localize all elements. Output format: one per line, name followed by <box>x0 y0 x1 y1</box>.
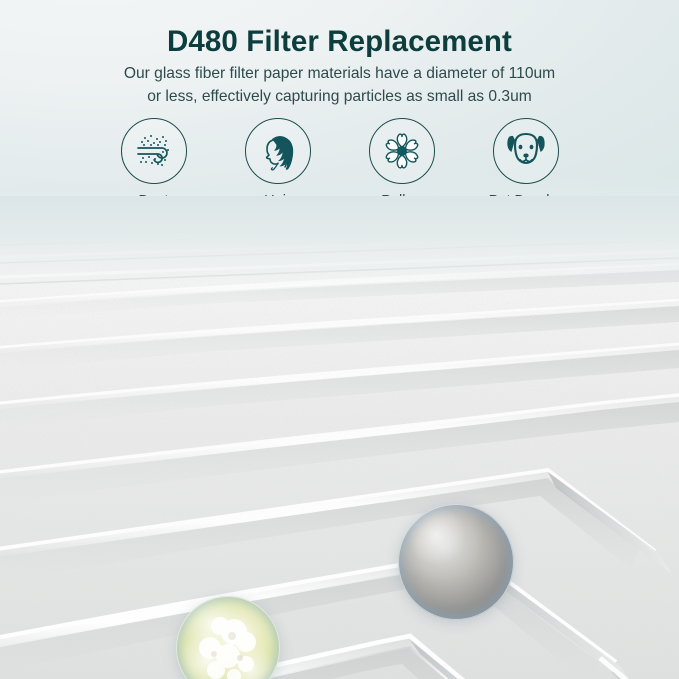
product-feature-poster: D480 Filter Replacement Our glass fiber … <box>0 0 679 679</box>
dust-wind-icon <box>132 129 176 173</box>
hair-icon-circle <box>245 118 311 184</box>
dust-particle-bubble <box>398 504 514 620</box>
page-title: D480 Filter Replacement <box>0 22 679 62</box>
pet-icon-circle <box>493 118 559 184</box>
filter-photo <box>0 196 679 679</box>
subtitle-line-1: Our glass fiber filter paper materials h… <box>0 62 679 85</box>
horizon-haze <box>0 196 679 286</box>
subtitle-line-2: or less, effectively capturing particles… <box>0 85 679 108</box>
pet-dog-icon <box>503 130 549 172</box>
pollen-flower-icon <box>380 129 424 173</box>
dust-icon-circle <box>121 118 187 184</box>
page-subtitle: Our glass fiber filter paper materials h… <box>0 62 679 108</box>
pollen-icon-circle <box>369 118 435 184</box>
hair-woman-icon <box>256 128 300 174</box>
